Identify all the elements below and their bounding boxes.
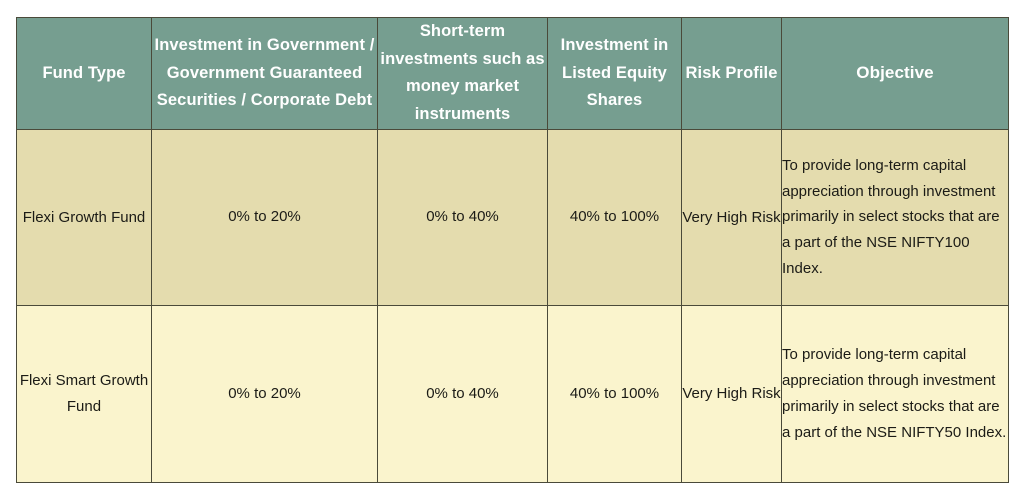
cell-risk-profile: Very High Risk — [682, 305, 782, 482]
table-row: Flexi Smart Growth Fund 0% to 20% 0% to … — [17, 305, 1009, 482]
column-header-objective: Objective — [782, 18, 1009, 130]
cell-fund-type: Flexi Growth Fund — [17, 129, 152, 305]
cell-listed-equity: 40% to 100% — [548, 129, 682, 305]
fund-comparison-table-container: Fund Type Investment in Government / Gov… — [16, 17, 1008, 483]
cell-short-term: 0% to 40% — [378, 305, 548, 482]
table-header-row: Fund Type Investment in Government / Gov… — [17, 18, 1009, 130]
cell-govt-debt: 0% to 20% — [152, 129, 378, 305]
cell-objective: To provide long-term capital appreciatio… — [782, 129, 1009, 305]
table-body: Flexi Growth Fund 0% to 20% 0% to 40% 40… — [17, 129, 1009, 482]
cell-listed-equity: 40% to 100% — [548, 305, 682, 482]
column-header-listed-equity: Investment in Listed Equity Shares — [548, 18, 682, 130]
cell-objective: To provide long-term capital appreciatio… — [782, 305, 1009, 482]
column-header-short-term: Short-term investments such as money mar… — [378, 18, 548, 130]
fund-comparison-table: Fund Type Investment in Government / Gov… — [16, 17, 1009, 483]
column-header-fund-type: Fund Type — [17, 18, 152, 130]
table-row: Flexi Growth Fund 0% to 20% 0% to 40% 40… — [17, 129, 1009, 305]
cell-govt-debt: 0% to 20% — [152, 305, 378, 482]
column-header-govt-debt: Investment in Government / Government Gu… — [152, 18, 378, 130]
cell-short-term: 0% to 40% — [378, 129, 548, 305]
table-header: Fund Type Investment in Government / Gov… — [17, 18, 1009, 130]
cell-risk-profile: Very High Risk — [682, 129, 782, 305]
cell-fund-type: Flexi Smart Growth Fund — [17, 305, 152, 482]
column-header-risk-profile: Risk Profile — [682, 18, 782, 130]
